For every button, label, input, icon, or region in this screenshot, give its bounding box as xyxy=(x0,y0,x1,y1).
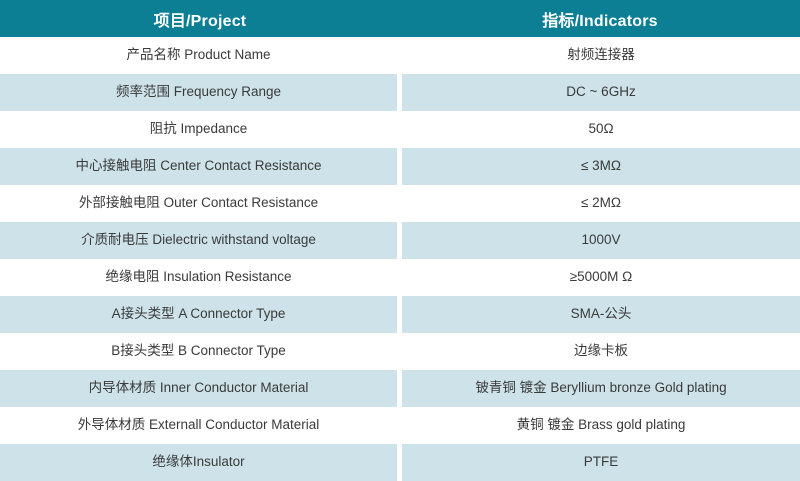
cell-project: 阻抗 Impedance xyxy=(0,111,400,148)
cell-project: A接头类型 A Connector Type xyxy=(0,296,400,333)
cell-indicator: 铍青铜 镀金 Beryllium bronze Gold plating xyxy=(400,370,800,407)
cell-indicator: 黄铜 镀金 Brass gold plating xyxy=(400,407,800,444)
cell-indicator: 50Ω xyxy=(400,111,800,148)
cell-indicator: ≤ 2MΩ xyxy=(400,185,800,222)
table-row: 阻抗 Impedance50Ω xyxy=(0,111,800,148)
cell-project: B接头类型 B Connector Type xyxy=(0,333,400,370)
cell-project: 绝缘电阻 Insulation Resistance xyxy=(0,259,400,296)
cell-project: 外部接触电阻 Outer Contact Resistance xyxy=(0,185,400,222)
table-row: 介质耐电压 Dielectric withstand voltage1000V xyxy=(0,222,800,259)
table-body: 产品名称 Product Name射频连接器频率范围 Frequency Ran… xyxy=(0,37,800,481)
table-row: 外导体材质 Externall Conductor Material黄铜 镀金 … xyxy=(0,407,800,444)
cell-indicator: ≤ 3MΩ xyxy=(400,148,800,185)
cell-project: 外导体材质 Externall Conductor Material xyxy=(0,407,400,444)
table-row: 产品名称 Product Name射频连接器 xyxy=(0,37,800,74)
cell-indicator: PTFE xyxy=(400,444,800,481)
cell-project: 内导体材质 Inner Conductor Material xyxy=(0,370,400,407)
table-row: 绝缘体InsulatorPTFE xyxy=(0,444,800,481)
column-header-indicator: 指标/Indicators xyxy=(400,0,800,37)
cell-project: 介质耐电压 Dielectric withstand voltage xyxy=(0,222,400,259)
table-row: 内导体材质 Inner Conductor Material铍青铜 镀金 Ber… xyxy=(0,370,800,407)
cell-indicator: 射频连接器 xyxy=(400,37,800,74)
column-header-project: 项目/Project xyxy=(0,0,400,37)
cell-project: 中心接触电阻 Center Contact Resistance xyxy=(0,148,400,185)
table-row: 外部接触电阻 Outer Contact Resistance≤ 2MΩ xyxy=(0,185,800,222)
table-row: 频率范围 Frequency RangeDC ~ 6GHz xyxy=(0,74,800,111)
cell-indicator: SMA-公头 xyxy=(400,296,800,333)
table-row: 中心接触电阻 Center Contact Resistance≤ 3MΩ xyxy=(0,148,800,185)
specification-table: 项目/Project 指标/Indicators 产品名称 Product Na… xyxy=(0,0,800,481)
table-header-row: 项目/Project 指标/Indicators xyxy=(0,0,800,37)
cell-indicator: 1000V xyxy=(400,222,800,259)
cell-indicator: DC ~ 6GHz xyxy=(400,74,800,111)
table-row: B接头类型 B Connector Type边缘卡板 xyxy=(0,333,800,370)
cell-project: 频率范围 Frequency Range xyxy=(0,74,400,111)
table-row: A接头类型 A Connector TypeSMA-公头 xyxy=(0,296,800,333)
table-head: 项目/Project 指标/Indicators xyxy=(0,0,800,37)
table-row: 绝缘电阻 Insulation Resistance≥5000M Ω xyxy=(0,259,800,296)
cell-project: 绝缘体Insulator xyxy=(0,444,400,481)
cell-project: 产品名称 Product Name xyxy=(0,37,400,74)
cell-indicator: ≥5000M Ω xyxy=(400,259,800,296)
cell-indicator: 边缘卡板 xyxy=(400,333,800,370)
